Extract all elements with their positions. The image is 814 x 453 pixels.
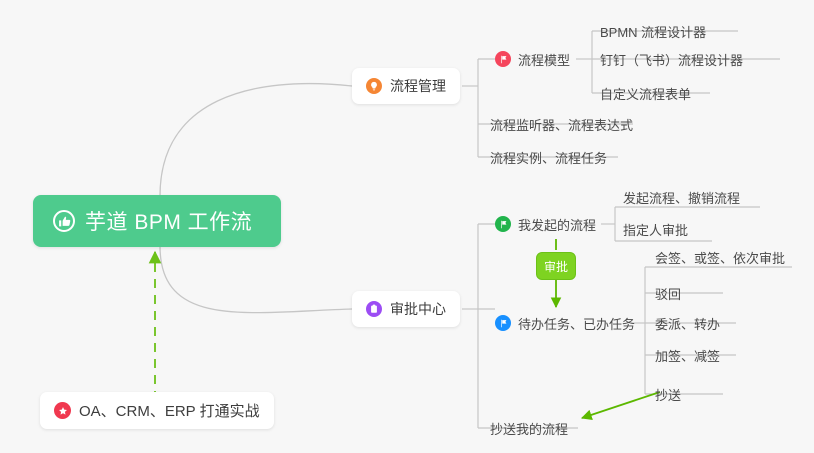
node-label: 流程监听器、流程表达式 (490, 115, 633, 134)
root-label: 芋道 BPM 工作流 (85, 206, 252, 236)
node-label: 抄送 (655, 385, 681, 404)
bottom-callout-card[interactable]: OA、CRM、ERP 打通实战 (40, 392, 274, 429)
node-label: 自定义流程表单 (600, 84, 691, 103)
thumbs-up-icon (53, 210, 75, 232)
node-dingtalk-designer[interactable]: 钉钉（飞书）流程设计器 (600, 46, 743, 72)
node-cc[interactable]: 抄送 (655, 381, 681, 407)
node-reject[interactable]: 驳回 (655, 280, 681, 306)
node-custom-form[interactable]: 自定义流程表单 (600, 80, 691, 106)
approve-tag-label: 审批 (544, 258, 568, 275)
approve-tag: 审批 (536, 252, 576, 280)
branch-label: 审批中心 (390, 299, 446, 319)
node-label: 发起流程、撤销流程 (623, 188, 740, 207)
node-label: 待办任务、已办任务 (518, 314, 635, 333)
node-process-model[interactable]: 流程模型 (495, 46, 570, 72)
node-my-initiated[interactable]: 我发起的流程 (495, 211, 596, 237)
root-node[interactable]: 芋道 BPM 工作流 (33, 195, 281, 247)
bottom-callout-label: OA、CRM、ERP 打通实战 (79, 400, 260, 421)
node-label: 驳回 (655, 284, 681, 303)
node-label: 钉钉（飞书）流程设计器 (600, 50, 743, 69)
node-cc-to-me[interactable]: 抄送我的流程 (490, 415, 568, 441)
mindmap-canvas: 芋道 BPM 工作流 流程管理 流程模型 BPMN 流程设计器 钉钉（飞书）流程… (0, 0, 814, 453)
document-icon (366, 301, 382, 317)
node-label: 抄送我的流程 (490, 419, 568, 438)
node-label: 流程实例、流程任务 (490, 148, 607, 167)
branch-label: 流程管理 (390, 76, 446, 96)
lightbulb-icon (366, 78, 382, 94)
node-start-cancel-process[interactable]: 发起流程、撤销流程 (623, 184, 740, 210)
node-process-listener[interactable]: 流程监听器、流程表达式 (490, 111, 633, 137)
node-label: 会签、或签、依次审批 (655, 248, 785, 267)
node-add-remove-sign[interactable]: 加签、减签 (655, 342, 720, 368)
flag-icon (495, 216, 511, 232)
node-label: 加签、减签 (655, 346, 720, 365)
flag-icon (495, 315, 511, 331)
node-label: 委派、转办 (655, 314, 720, 333)
node-label: 流程模型 (518, 50, 570, 69)
star-icon (54, 402, 71, 419)
node-delegate-transfer[interactable]: 委派、转办 (655, 310, 720, 336)
node-todo-done-tasks[interactable]: 待办任务、已办任务 (495, 310, 635, 336)
flag-icon (495, 51, 511, 67)
node-label: 指定人审批 (623, 220, 688, 239)
node-label: 我发起的流程 (518, 215, 596, 234)
node-process-instance[interactable]: 流程实例、流程任务 (490, 144, 607, 170)
node-label: BPMN 流程设计器 (600, 22, 706, 41)
node-countersign[interactable]: 会签、或签、依次审批 (655, 244, 785, 270)
branch-node-process-management[interactable]: 流程管理 (352, 68, 460, 104)
branch-node-approval-center[interactable]: 审批中心 (352, 291, 460, 327)
node-designated-approver[interactable]: 指定人审批 (623, 216, 688, 242)
node-bpmn-designer[interactable]: BPMN 流程设计器 (600, 18, 706, 44)
